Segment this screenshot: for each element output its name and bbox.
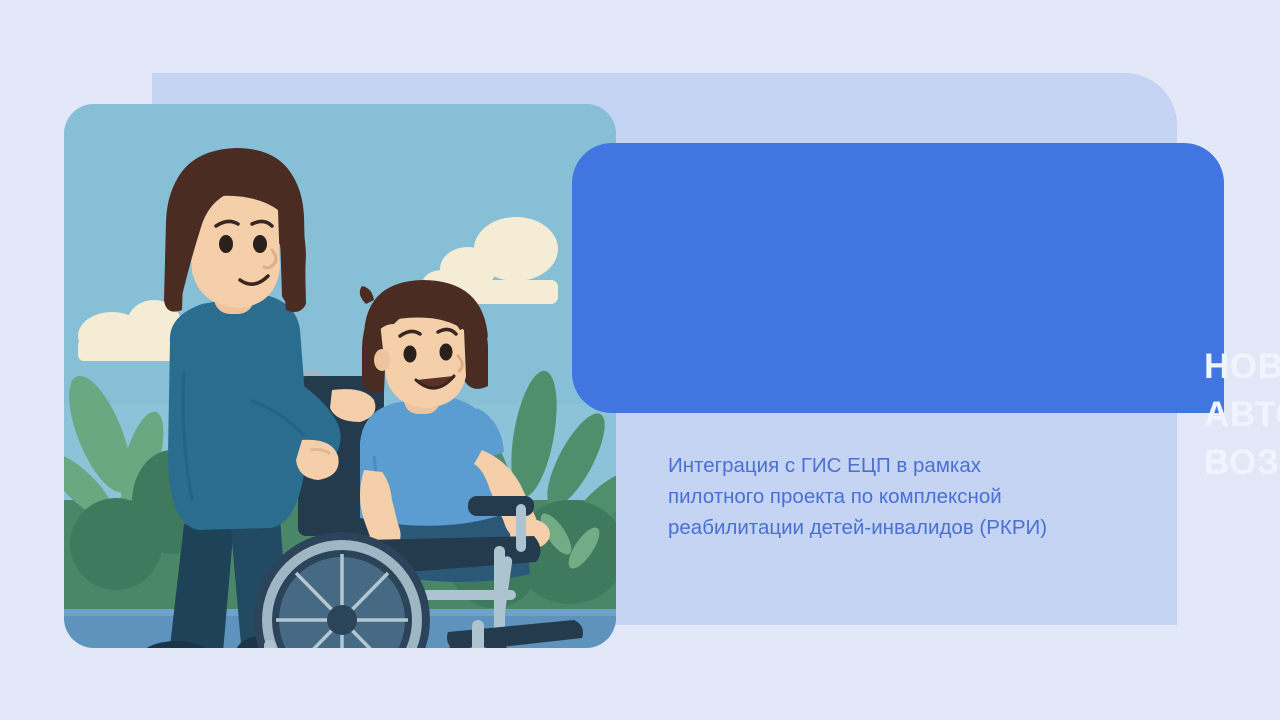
illustration-image	[64, 104, 616, 648]
boy-ear	[374, 349, 390, 371]
woman-eye-left	[219, 235, 233, 253]
boy-eye-right	[440, 344, 453, 361]
slide-root: НОВАЯ АВТОМАТИЗИРОВАННАЯ ВОЗМОЖНОСТЬ Инт…	[0, 0, 1280, 720]
woman-eye-right	[253, 235, 267, 253]
headline-card: НОВАЯ АВТОМАТИЗИРОВАННАЯ ВОЗМОЖНОСТЬ	[572, 143, 1224, 413]
illustration-svg	[64, 104, 616, 648]
subtitle-text: Интеграция с ГИС ЕЦП в рамках пилотного …	[668, 450, 1188, 543]
boy-eye-left	[404, 346, 417, 363]
page-title: НОВАЯ АВТОМАТИЗИРОВАННАЯ ВОЗМОЖНОСТЬ	[1204, 343, 1280, 487]
